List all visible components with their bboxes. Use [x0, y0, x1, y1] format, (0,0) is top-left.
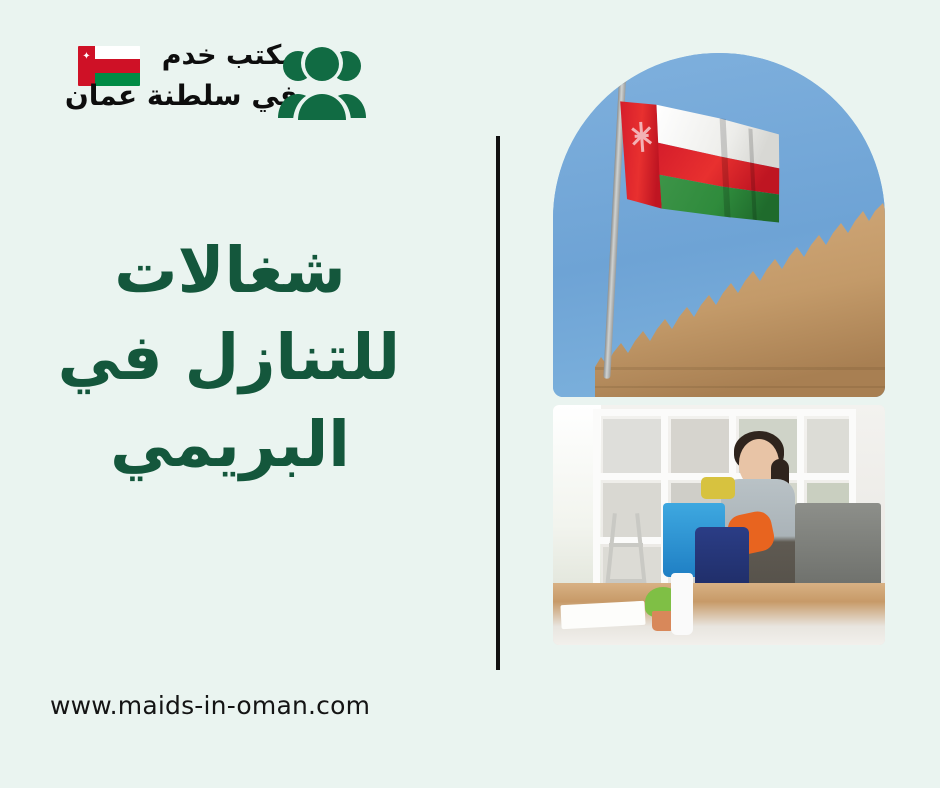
page-title-line-3: البريمي — [60, 402, 400, 489]
oman-flag-photo — [553, 53, 885, 397]
page-title-line-2: للتنازل في — [60, 315, 400, 402]
group-of-people-icon — [276, 38, 368, 124]
papers-on-desk — [560, 601, 645, 629]
housemaid-cleaning-photo — [553, 405, 885, 645]
website-url[interactable]: www.maids-in-oman.com — [50, 691, 370, 720]
brand-name-line-2: في سلطنة عمان — [65, 79, 298, 112]
spray-bottle — [671, 573, 693, 635]
page-title: شغالات للتنازل في البريمي — [60, 228, 400, 489]
poster-canvas: ✦ مكتب خدم في سلطنة عمان — [0, 0, 940, 788]
flag-pole-finial — [615, 71, 628, 84]
page-title-line-1: شغالات — [60, 228, 400, 315]
oman-flag-graphic — [618, 81, 809, 253]
brand-logo[interactable]: ✦ مكتب خدم في سلطنة عمان — [78, 34, 378, 134]
sponge — [701, 477, 735, 499]
vertical-divider — [496, 136, 500, 670]
